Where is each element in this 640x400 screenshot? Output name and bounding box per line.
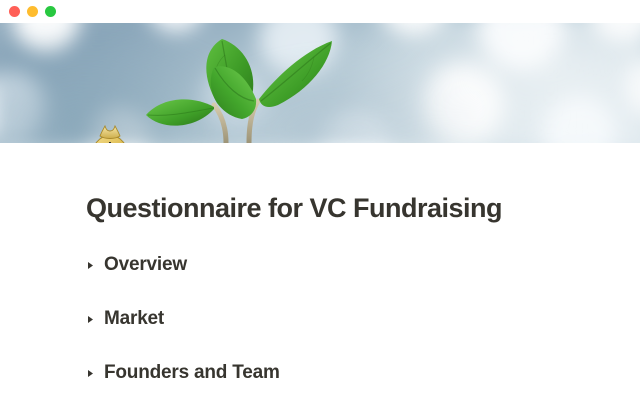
maximize-button[interactable] bbox=[45, 6, 56, 17]
chevron-right-icon[interactable] bbox=[86, 369, 104, 378]
minimize-button[interactable] bbox=[27, 6, 38, 17]
page-title[interactable]: Questionnaire for VC Fundraising bbox=[86, 193, 502, 224]
toggle-block-overview[interactable]: Overview bbox=[86, 251, 606, 279]
toggle-block-list: Overview Market Founders and Team bbox=[86, 251, 606, 400]
toggle-block-founders-and-team[interactable]: Founders and Team bbox=[86, 359, 606, 387]
window-controls bbox=[9, 6, 56, 17]
toggle-label: Market bbox=[104, 308, 164, 330]
close-button[interactable] bbox=[9, 6, 20, 17]
chevron-right-icon[interactable] bbox=[86, 261, 104, 270]
toggle-block-market[interactable]: Market bbox=[86, 305, 606, 333]
seedling-plant-illustration bbox=[118, 23, 348, 143]
app-window: $ Questionnaire for VC Fundraising Overv… bbox=[0, 0, 640, 400]
document-body: Questionnaire for VC Fundraising Overvie… bbox=[0, 143, 640, 400]
chevron-right-icon[interactable] bbox=[86, 315, 104, 324]
toggle-label: Overview bbox=[104, 254, 187, 276]
toggle-label: Founders and Team bbox=[104, 362, 280, 384]
title-bar bbox=[0, 0, 640, 23]
